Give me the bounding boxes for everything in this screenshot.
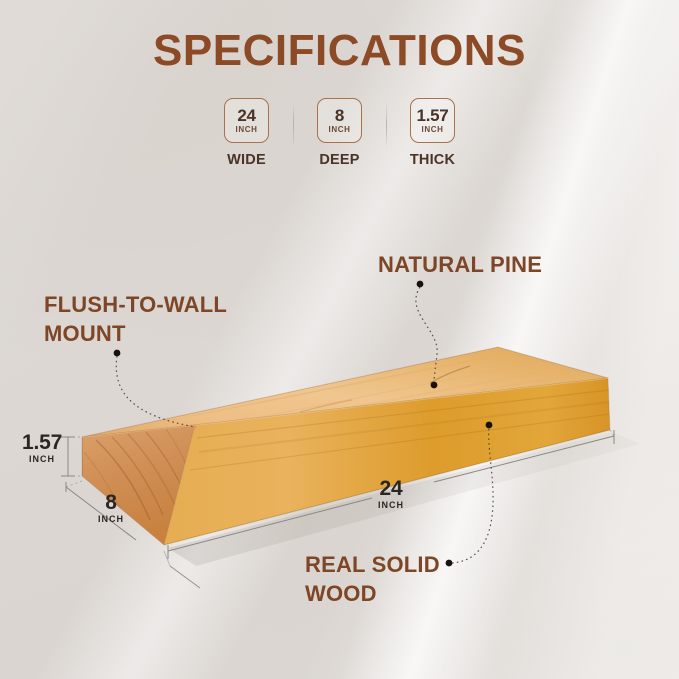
spec-unit-thick: INCH	[422, 126, 444, 134]
dimension-label-width: 24 INCH	[378, 478, 404, 510]
dimension-unit-depth: INCH	[98, 515, 124, 524]
spec-caption-deep: DEEP	[319, 152, 359, 168]
spec-badge-thick: 1.57 INCH	[410, 98, 455, 143]
dimension-value-depth: 8	[98, 492, 124, 513]
callout-label-real-solid-wood: REAL SOLID WOOD	[305, 550, 440, 608]
spec-caption-wide: WIDE	[227, 152, 266, 168]
dimension-value-width: 24	[378, 478, 404, 499]
callout-label-flush-to-wall-mount: FLUSH-TO-WALL MOUNT	[44, 290, 227, 348]
page-title: SPECIFICATIONS	[0, 29, 679, 73]
dimension-label-thickness: 1.57 INCH	[22, 432, 62, 464]
spec-unit-deep: INCH	[329, 126, 351, 134]
spec-item-deep: 8 INCH DEEP	[294, 98, 386, 168]
spec-badge-deep: 8 INCH	[317, 98, 362, 143]
spec-badge-row: 24 INCH WIDE 8 INCH DEEP 1.57 INCH THICK	[0, 98, 679, 168]
spec-caption-thick: THICK	[410, 152, 455, 168]
spec-badge-wide: 24 INCH	[224, 98, 269, 143]
dimension-unit-thickness: INCH	[22, 455, 62, 464]
spec-value-wide: 24	[237, 107, 255, 124]
dimension-value-thickness: 1.57	[22, 432, 62, 453]
spec-item-thick: 1.57 INCH THICK	[387, 98, 479, 168]
spec-value-thick: 1.57	[417, 107, 449, 124]
dimension-unit-width: INCH	[378, 501, 404, 510]
spec-item-wide: 24 INCH WIDE	[201, 98, 293, 168]
callout-label-natural-pine: NATURAL PINE	[378, 250, 542, 279]
spec-value-deep: 8	[335, 107, 344, 124]
dimension-label-depth: 8 INCH	[98, 492, 124, 524]
spec-unit-wide: INCH	[236, 126, 258, 134]
